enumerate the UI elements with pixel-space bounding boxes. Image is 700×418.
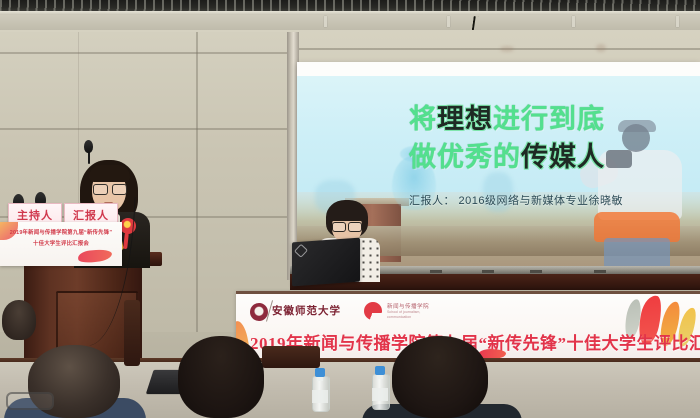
presentation-room-scene: 将理想进行到底 做优秀的传媒人 汇报人： 2016级网络与新媒体专业徐晓敏 [0,0,700,418]
laptop-operator [298,200,418,280]
water-bottle [372,366,388,408]
banner-top-edge [236,291,700,294]
ceiling-hook [447,16,450,27]
slide-title: 将理想进行到底 做优秀的传媒人 [409,100,699,176]
school-name-en: School of journalism, communication [387,310,420,320]
water-bottle [312,368,328,410]
bottle-cap [375,366,385,375]
slide-presenter-line: 汇报人： 2016级网络与新媒体专业徐晓敏 [409,192,689,208]
rail-notch [482,270,494,273]
operator-bangs [329,208,366,221]
wall-stain [500,46,514,52]
university-crest-icon [250,303,268,321]
laptop-logo-icon [294,244,308,258]
speaker-bangs [89,165,130,182]
bottle-label [312,390,328,403]
slide-title-part-3: 进行到底 [493,104,605,134]
university-name: 安徽师范大学 [272,303,341,318]
panel-line [0,52,296,54]
glasses-lens-left [93,184,108,195]
rail-notch [430,270,442,273]
school-name-cn: 新闻与传播学院 [387,302,429,310]
school-name-en-line2: communication [387,315,411,319]
audience-head [178,336,264,418]
bottle-label [372,388,388,401]
audience-head [2,300,36,340]
stage-laptop [292,238,360,287]
audience-head [392,336,488,418]
operator-glasses-right [348,222,362,232]
ceiling-hook [572,16,575,27]
school-logo-icon [364,302,382,320]
ceiling-hook [324,16,327,27]
school-name-en-line1: School of journalism, [387,310,420,314]
rail-notch [594,270,606,273]
screen-top-band [297,62,700,76]
wall-stain [596,44,606,52]
host-placard-label: 主持人 [17,207,53,223]
microphone-head [84,140,93,153]
glasses-lens-right [112,184,127,195]
panel-line [196,32,198,332]
rail-notch [530,270,542,273]
speaker-glasses [93,184,125,193]
ceiling-hook [676,16,679,27]
chair-back [262,346,320,368]
panel-line [0,128,296,130]
slide-title-part-5: 传媒人 [521,142,605,172]
operator-glasses-left [332,222,346,232]
slide-title-part-4: 做优秀的 [409,142,521,172]
slide-title-part-2: 理想 [437,104,493,134]
bottle-cap [315,368,325,377]
audience-glasses [6,392,54,410]
slide-title-part-1: 将 [409,104,437,134]
chair-back [124,300,140,366]
school-logo-bar [371,310,382,313]
